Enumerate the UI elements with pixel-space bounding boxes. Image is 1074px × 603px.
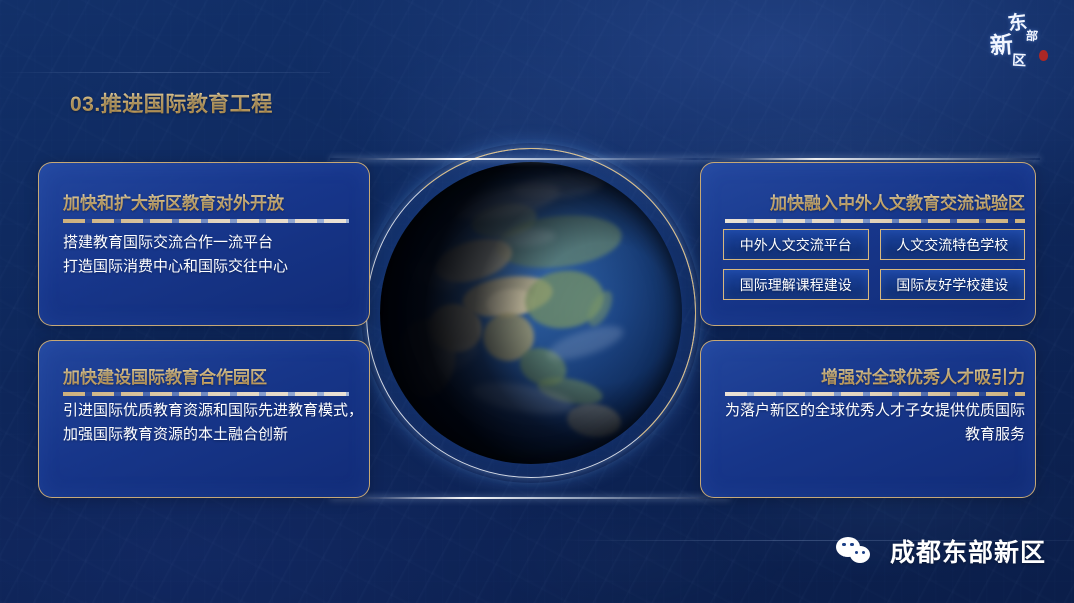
earth-globe-asia-icon	[380, 162, 682, 464]
globe-limb-shadow	[380, 162, 682, 464]
panel-top-left-divider	[63, 219, 349, 223]
panel-bottom-right-title: 增强对全球优秀人才吸引力	[821, 363, 1025, 388]
panel-bottom-left-divider	[63, 392, 349, 396]
panel-bottom-left[interactable]: 加快建设国际教育合作园区 引进国际优质教育资源和国际先进教育模式，加强国际教育资…	[38, 340, 370, 498]
panel-top-left-title: 加快和扩大新区教育对外开放	[63, 189, 284, 214]
background-streak	[0, 72, 330, 73]
brand-logo-char-xin: 新	[989, 33, 1014, 58]
page-title: 03.推进国际教育工程	[70, 88, 273, 118]
panel-bottom-left-title: 加快建设国际教育合作园区	[63, 363, 267, 388]
globe-graphic	[366, 148, 696, 478]
brand-logo-char-dong: 东	[1007, 13, 1028, 34]
glow-line-bottom	[330, 497, 730, 499]
panel-top-right-divider	[725, 219, 1025, 223]
panel-bottom-right-body: 为落户新区的全球优秀人才子女提供优质国际教育服务	[721, 399, 1025, 448]
brand-logo-char-qu: 区	[1012, 55, 1027, 70]
footer-label: 成都东部新区	[890, 533, 1046, 569]
panel-top-right[interactable]: 加快融入中外人文教育交流试验区 中外人文交流平台 人文交流特色学校 国际理解课程…	[700, 162, 1036, 326]
panel-top-left-body: 搭建教育国际交流合作一流平台 打造国际消费中心和国际交往中心	[63, 231, 359, 280]
slide-root: 东 部 新 区 03.推进国际教育工程	[0, 0, 1074, 603]
tag-box[interactable]: 人文交流特色学校	[880, 229, 1026, 260]
tag-box[interactable]: 国际友好学校建设	[880, 269, 1026, 300]
panel-bottom-right-divider	[725, 392, 1025, 396]
brand-logo: 东 部 新 区	[982, 10, 1054, 72]
wechat-icon	[836, 536, 876, 566]
glow-line-top-right	[700, 158, 1040, 160]
brand-logo-char-bu: 部	[1025, 29, 1038, 42]
panel-top-left[interactable]: 加快和扩大新区教育对外开放 搭建教育国际交流合作一流平台 打造国际消费中心和国际…	[38, 162, 370, 326]
tag-box[interactable]: 中外人文交流平台	[723, 229, 869, 260]
panel-bottom-left-body: 引进国际优质教育资源和国际先进教育模式，加强国际教育资源的本土融合创新	[63, 399, 363, 448]
seal-dot-icon	[1039, 50, 1048, 61]
panel-top-right-title: 加快融入中外人文教育交流试验区	[770, 189, 1025, 214]
tag-box[interactable]: 国际理解课程建设	[723, 269, 869, 300]
tag-box-grid: 中外人文交流平台 人文交流特色学校 国际理解课程建设 国际友好学校建设	[723, 229, 1025, 300]
footer: 成都东部新区	[836, 533, 1046, 569]
panel-bottom-right[interactable]: 增强对全球优秀人才吸引力 为落户新区的全球优秀人才子女提供优质国际教育服务	[700, 340, 1036, 498]
